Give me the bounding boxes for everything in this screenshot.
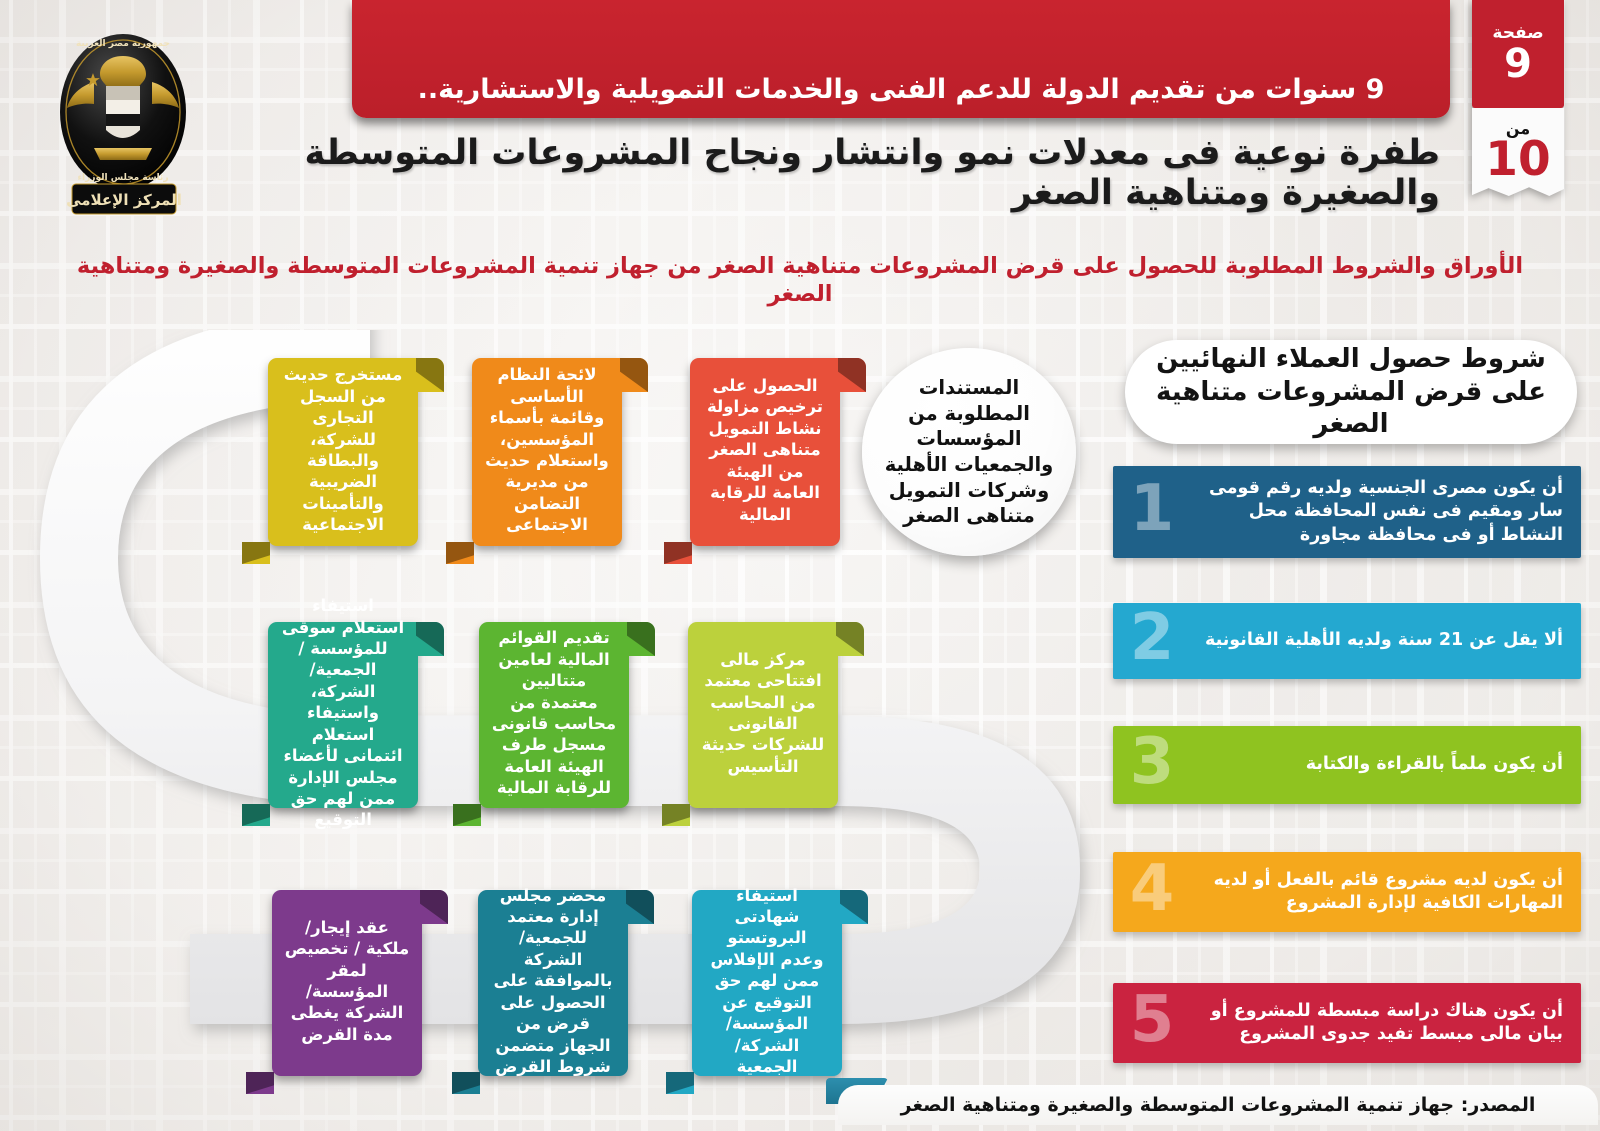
document-card-7[interactable]: استيفاء شهادتى البروتستو وعدم الإفلاس مم… xyxy=(692,890,842,1076)
condition-row-5[interactable]: أن يكون هناك دراسة مبسطة للمشروع أو بيان… xyxy=(1113,983,1581,1063)
document-card-7-text: استيفاء شهادتى البروتستو وعدم الإفلاس مم… xyxy=(704,885,830,1078)
ribbon-tail-icon xyxy=(446,542,474,564)
documents-section-title: المستندات المطلوبة من المؤسسات والجمعيات… xyxy=(862,348,1076,556)
condition-1-number: 1 xyxy=(1113,481,1191,543)
page-subtitle: الأوراق والشروط المطلوبة للحصول على قرض … xyxy=(70,252,1530,308)
document-card-6[interactable]: استيفاء استعلام سوقى للمؤسسة / الجمعية/ … xyxy=(268,622,418,808)
document-card-6-text: استيفاء استعلام سوقى للمؤسسة / الجمعية/ … xyxy=(280,595,406,831)
document-card-4[interactable]: مركز مالى افتتاحى معتمد من المحاسب القان… xyxy=(688,622,838,808)
ribbon-tail-icon xyxy=(662,804,690,826)
fold-corner-icon xyxy=(627,622,655,656)
condition-row-2[interactable]: ألا يقل عن 21 سنة ولديه الأهلية القانوني… xyxy=(1113,603,1581,679)
document-card-3-text: مستخرج حديث من السجل التجارى للشركة، وال… xyxy=(280,364,406,536)
document-card-5[interactable]: تقديم القوائم المالية لعامين متتاليين مع… xyxy=(479,622,629,808)
document-card-4-text: مركز مالى افتتاحى معتمد من المحاسب القان… xyxy=(700,649,826,778)
fold-corner-icon xyxy=(620,358,648,392)
fold-corner-icon xyxy=(420,890,448,924)
fold-corner-icon xyxy=(626,890,654,924)
document-card-5-text: تقديم القوائم المالية لعامين متتاليين مع… xyxy=(491,627,617,799)
fold-corner-icon xyxy=(416,622,444,656)
header-banner-text: 9 سنوات من تقديم الدولة للدعم الفنى والخ… xyxy=(386,74,1416,106)
svg-text:المركز الإعلامى: المركز الإعلامى xyxy=(66,191,182,209)
page-label: صفحة xyxy=(1492,25,1543,42)
condition-5-number: 5 xyxy=(1113,992,1191,1054)
ribbon-tail-icon xyxy=(664,542,692,564)
ribbon-tail-icon xyxy=(453,804,481,826)
page-total: 10 xyxy=(1485,136,1550,183)
page-number-badge: صفحة 9 من 10 xyxy=(1472,0,1564,196)
page-number: 9 xyxy=(1504,44,1532,84)
document-card-8-text: محضر مجلس إدارة معتمد للجمعية/ الشركة با… xyxy=(490,885,616,1078)
svg-text:جمهورية مصر العربية: جمهورية مصر العربية xyxy=(76,39,170,49)
condition-row-4[interactable]: أن يكون لديه مشروع قائم بالفعل أو لديه ا… xyxy=(1113,852,1581,932)
condition-3-number: 3 xyxy=(1113,734,1191,796)
condition-4-number: 4 xyxy=(1113,861,1191,923)
condition-5-text: أن يكون هناك دراسة مبسطة للمشروع أو بيان… xyxy=(1191,990,1581,1056)
ribbon-tail-icon xyxy=(452,1072,480,1094)
header-banner: 9 سنوات من تقديم الدولة للدعم الفنى والخ… xyxy=(352,0,1450,118)
page-title: طفرة نوعية فى معدلات نمو وانتشار ونجاح ا… xyxy=(220,130,1440,216)
condition-2-number: 2 xyxy=(1113,610,1191,672)
document-card-8[interactable]: محضر مجلس إدارة معتمد للجمعية/ الشركة با… xyxy=(478,890,628,1076)
document-card-1[interactable]: الحصول على ترخيص مزاولة نشاط التمويل متن… xyxy=(690,358,840,546)
condition-1-text: أن يكون مصرى الجنسية ولديه رقم قومى سار … xyxy=(1191,467,1581,556)
ribbon-tail-icon xyxy=(666,1072,694,1094)
fold-corner-icon xyxy=(836,622,864,656)
document-card-1-text: الحصول على ترخيص مزاولة نشاط التمويل متن… xyxy=(702,375,828,525)
fold-corner-icon xyxy=(840,890,868,924)
condition-2-text: ألا يقل عن 21 سنة ولديه الأهلية القانوني… xyxy=(1191,619,1581,662)
source-note: المصدر: جهاز تنمية المشروعات المتوسطة وا… xyxy=(838,1085,1598,1125)
condition-row-1[interactable]: أن يكون مصرى الجنسية ولديه رقم قومى سار … xyxy=(1113,466,1581,558)
ribbon-tail-icon xyxy=(242,804,270,826)
page-badge-bottom: من 10 xyxy=(1472,108,1564,196)
document-card-9[interactable]: عقد إيجار/ ملكية / تخصيص لمقر المؤسسة/ ا… xyxy=(272,890,422,1076)
government-logo: جمهورية مصر العربية رئاسة مجلس الوزراء ا… xyxy=(36,20,211,220)
condition-3-text: أن يكون ملماً بالقراءة والكتابة xyxy=(1191,743,1581,786)
document-card-2-text: لائحة النظام الأساسى وقائمة بأسماء المؤس… xyxy=(484,364,610,536)
document-card-2[interactable]: لائحة النظام الأساسى وقائمة بأسماء المؤس… xyxy=(472,358,622,546)
fold-corner-icon xyxy=(416,358,444,392)
ribbon-tail-icon xyxy=(246,1072,274,1094)
fold-corner-icon xyxy=(838,358,866,392)
conditions-section-title: شروط حصول العملاء النهائيين على قرض المش… xyxy=(1125,340,1577,444)
document-card-3[interactable]: مستخرج حديث من السجل التجارى للشركة، وال… xyxy=(268,358,418,546)
condition-row-3[interactable]: أن يكون ملماً بالقراءة والكتابة 3 xyxy=(1113,726,1581,804)
condition-4-text: أن يكون لديه مشروع قائم بالفعل أو لديه ا… xyxy=(1191,859,1581,925)
svg-text:رئاسة مجلس الوزراء: رئاسة مجلس الوزراء xyxy=(77,173,168,183)
page-badge-top: صفحة 9 xyxy=(1472,0,1564,108)
document-card-9-text: عقد إيجار/ ملكية / تخصيص لمقر المؤسسة/ ا… xyxy=(284,917,410,1046)
ribbon-tail-icon xyxy=(242,542,270,564)
